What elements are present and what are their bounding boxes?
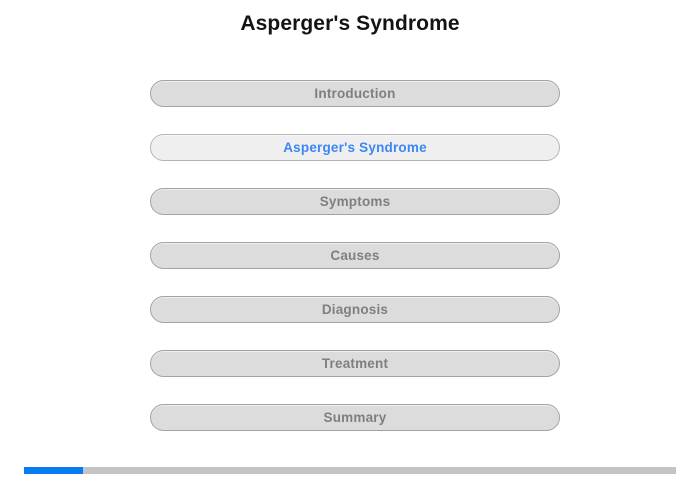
nav-item-aspergers-syndrome[interactable]: Asperger's Syndrome: [150, 134, 560, 161]
nav-item-causes[interactable]: Causes: [150, 242, 560, 269]
section-nav-list: IntroductionAsperger's SyndromeSymptomsC…: [150, 80, 560, 431]
nav-item-label: Introduction: [314, 87, 395, 101]
presentation-root: Asperger's Syndrome IntroductionAsperger…: [0, 0, 700, 480]
nav-item-label: Causes: [330, 249, 379, 263]
page-title: Asperger's Syndrome: [0, 11, 700, 37]
nav-item-symptoms[interactable]: Symptoms: [150, 188, 560, 215]
nav-item-label: Diagnosis: [322, 303, 388, 317]
nav-item-summary[interactable]: Summary: [150, 404, 560, 431]
nav-item-label: Symptoms: [320, 195, 391, 209]
progress-fill: [24, 467, 83, 474]
progress-track: [24, 467, 676, 474]
nav-item-label: Treatment: [322, 357, 388, 371]
progress-bar[interactable]: [24, 467, 676, 474]
nav-item-label: Asperger's Syndrome: [283, 141, 427, 155]
nav-item-diagnosis[interactable]: Diagnosis: [150, 296, 560, 323]
nav-item-treatment[interactable]: Treatment: [150, 350, 560, 377]
nav-item-introduction[interactable]: Introduction: [150, 80, 560, 107]
nav-item-label: Summary: [324, 411, 387, 425]
